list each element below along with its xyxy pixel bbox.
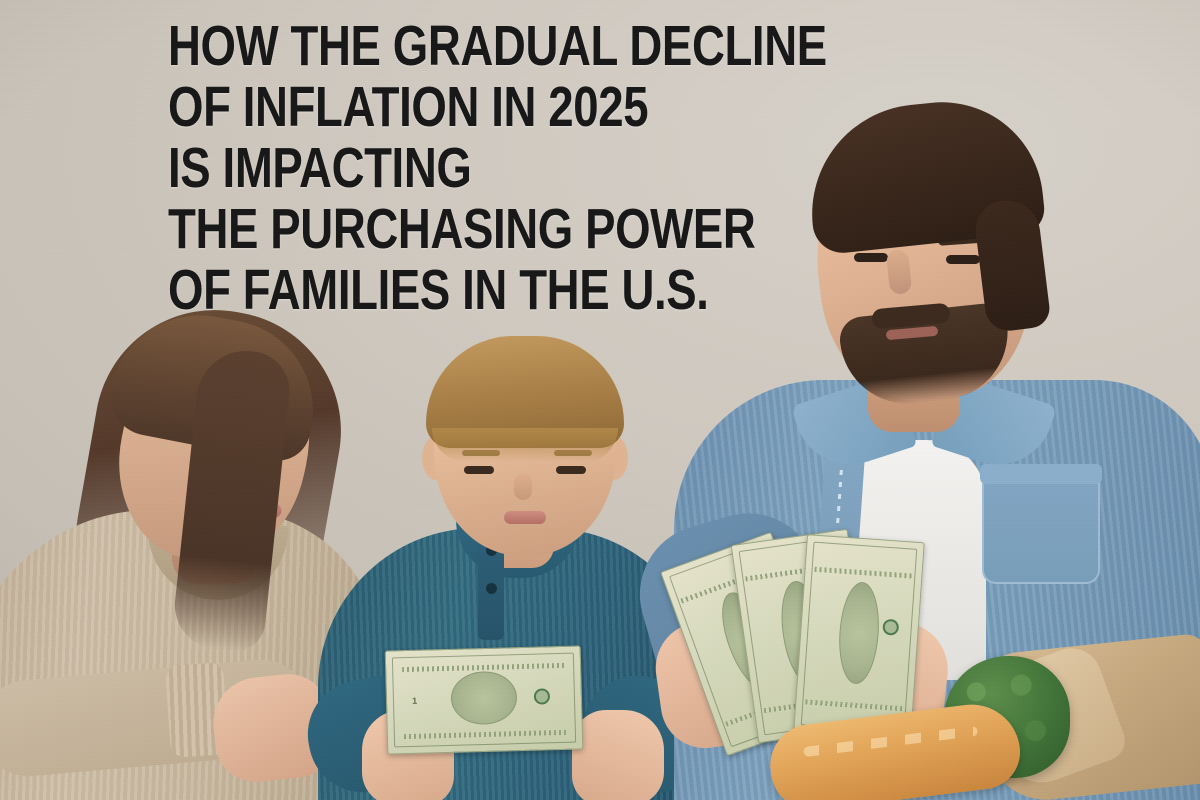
boy-nose bbox=[514, 474, 532, 500]
father-shirt-pocket bbox=[982, 472, 1100, 584]
boy-eye-right bbox=[556, 466, 586, 474]
bill-treasury-seal bbox=[534, 688, 550, 704]
headline-line-3: IS IMPACTING bbox=[168, 138, 827, 199]
bill-treasury-seal bbox=[883, 619, 900, 636]
father-shirt-pocket-flap bbox=[980, 464, 1102, 484]
bill-denomination-numeral: 1 bbox=[412, 696, 417, 706]
infographic-canvas: 1 HOW THE GRADUAL DECLINE OF INFLATION I… bbox=[0, 0, 1200, 800]
bill-pattern-strip bbox=[815, 567, 913, 579]
headline-overlay: HOW THE GRADUAL DECLINE OF INFLATION IN … bbox=[168, 16, 991, 321]
boy-lips bbox=[504, 511, 546, 524]
headline-line-1: HOW THE GRADUAL DECLINE bbox=[168, 16, 827, 77]
boy-shirt-button-bottom bbox=[486, 583, 497, 594]
bill-portrait-oval bbox=[450, 671, 517, 726]
boy-hair bbox=[426, 336, 624, 448]
bill-pattern-strip-lower bbox=[403, 730, 566, 739]
bill-portrait-oval bbox=[836, 581, 882, 685]
dollar-bill bbox=[793, 534, 925, 740]
bill-pattern-strip-lower bbox=[805, 699, 903, 711]
headline-line-4: THE PURCHASING POWER bbox=[168, 199, 827, 260]
headline-line-2: OF INFLATION IN 2025 bbox=[168, 77, 827, 138]
headline-line-5: OF FAMILIES IN THE U.S. bbox=[168, 260, 827, 321]
dollar-bill: 1 bbox=[385, 645, 584, 754]
boy-eye-left bbox=[464, 466, 494, 474]
